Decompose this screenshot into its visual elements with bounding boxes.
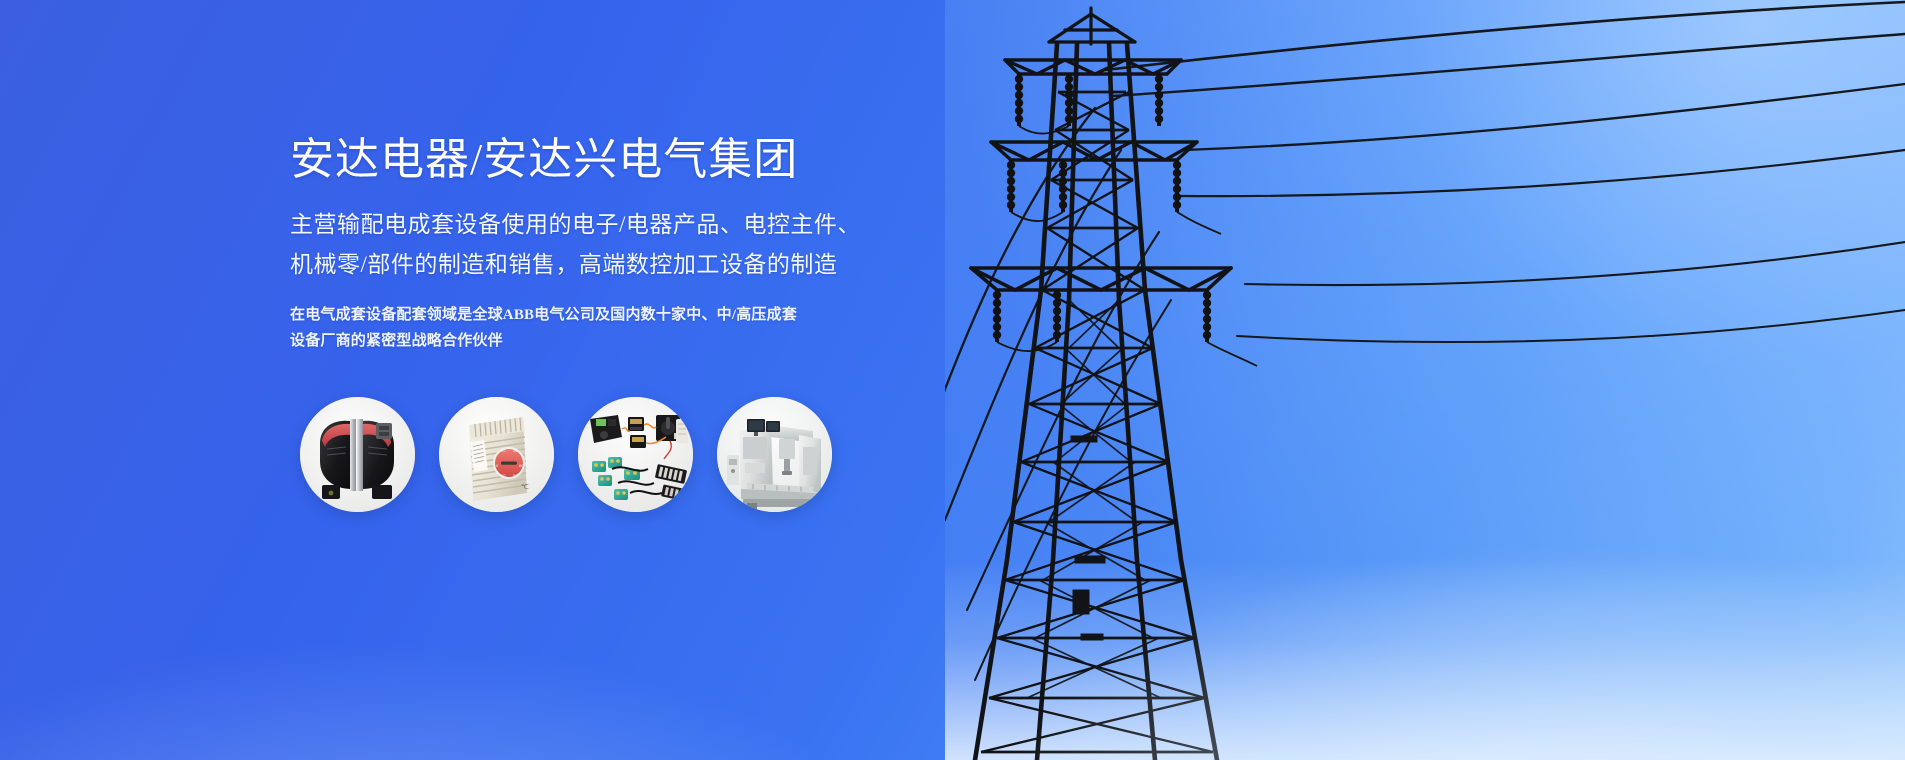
product-thumb-panel-thermostat[interactable]: 20 30 0 60 10 50 ℃ bbox=[439, 397, 554, 512]
hero-banner: 安达电器/安达兴电气集团 主营输配电成套设备使用的电子/电器产品、电控主件、 机… bbox=[0, 0, 1905, 760]
electronic-components-kit-icon bbox=[578, 397, 693, 512]
current-transformer-coil-icon bbox=[300, 397, 415, 512]
svg-text:20: 20 bbox=[501, 448, 506, 453]
svg-text:50: 50 bbox=[513, 473, 518, 478]
description-line-2: 设备厂商的紧密型战略合作伙伴 bbox=[290, 328, 890, 354]
svg-text:℃: ℃ bbox=[521, 484, 529, 491]
banner-description: 在电气成套设备配套领域是全球ABB电气公司及国内数十家中、中/高压成套 设备厂商… bbox=[290, 302, 890, 354]
svg-text:10: 10 bbox=[501, 473, 506, 478]
page-title: 安达电器/安达兴电气集团 bbox=[290, 132, 890, 187]
panel-thermostat-icon: 20 30 0 60 10 50 ℃ bbox=[439, 397, 554, 512]
svg-text:30: 30 bbox=[513, 448, 518, 453]
subtitle-line-1: 主营输配电成套设备使用的电子/电器产品、电控主件、 bbox=[290, 205, 890, 245]
svg-text:60: 60 bbox=[519, 463, 524, 468]
cnc-machining-center-icon bbox=[717, 397, 832, 512]
product-thumb-current-transformer-coil[interactable] bbox=[300, 397, 415, 512]
banner-text-block: 安达电器/安达兴电气集团 主营输配电成套设备使用的电子/电器产品、电控主件、 机… bbox=[290, 132, 890, 354]
horizon-haze-right bbox=[991, 550, 1905, 760]
product-thumb-electronic-components-kit[interactable] bbox=[578, 397, 693, 512]
product-thumbnail-row: 20 30 0 60 10 50 ℃ bbox=[300, 397, 832, 512]
horizon-haze-left bbox=[0, 640, 914, 760]
description-line-1: 在电气成套设备配套领域是全球ABB电气公司及国内数十家中、中/高压成套 bbox=[290, 302, 890, 328]
transmission-tower-photo bbox=[945, 0, 1905, 760]
banner-subtitle: 主营输配电成套设备使用的电子/电器产品、电控主件、 机械零/部件的制造和销售，高… bbox=[290, 205, 890, 285]
product-thumb-cnc-machining-center[interactable] bbox=[717, 397, 832, 512]
subtitle-line-2: 机械零/部件的制造和销售，高端数控加工设备的制造 bbox=[290, 245, 890, 285]
